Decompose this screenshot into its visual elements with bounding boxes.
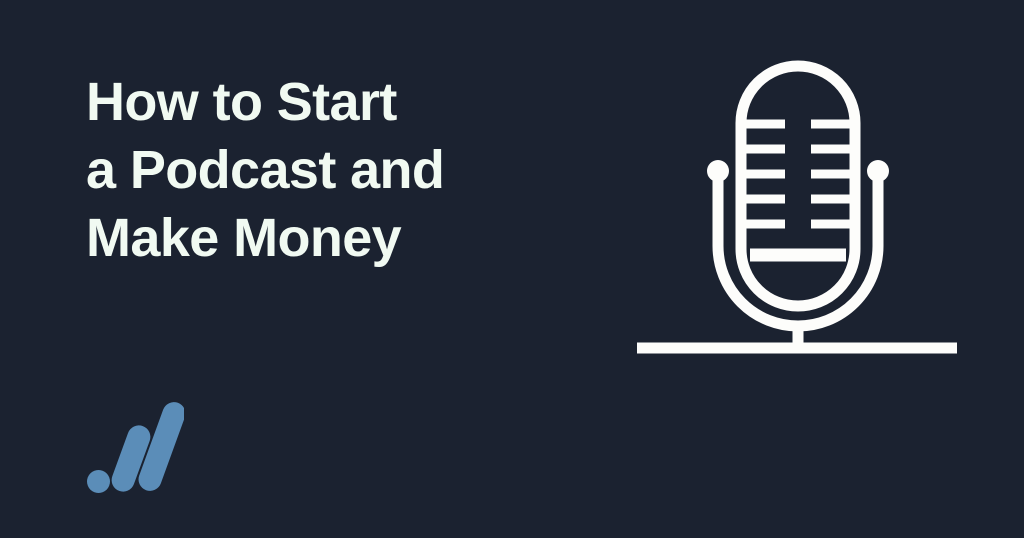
title-line-3: Make Money [86, 204, 626, 272]
ascending-bars-icon [87, 399, 184, 495]
microphone-icon [637, 66, 957, 348]
page-title: How to Start a Podcast and Make Money [86, 68, 626, 272]
mic-grille-lines [741, 124, 855, 224]
mic-capsule [741, 66, 855, 306]
brand-logo [84, 398, 184, 496]
title-line-2: a Podcast and [86, 136, 626, 204]
microphone-illustration [628, 52, 968, 364]
mic-yoke-dots [707, 160, 889, 182]
title-line-1: How to Start [86, 68, 626, 136]
promo-card: How to Start a Podcast and Make Money [0, 0, 1024, 538]
